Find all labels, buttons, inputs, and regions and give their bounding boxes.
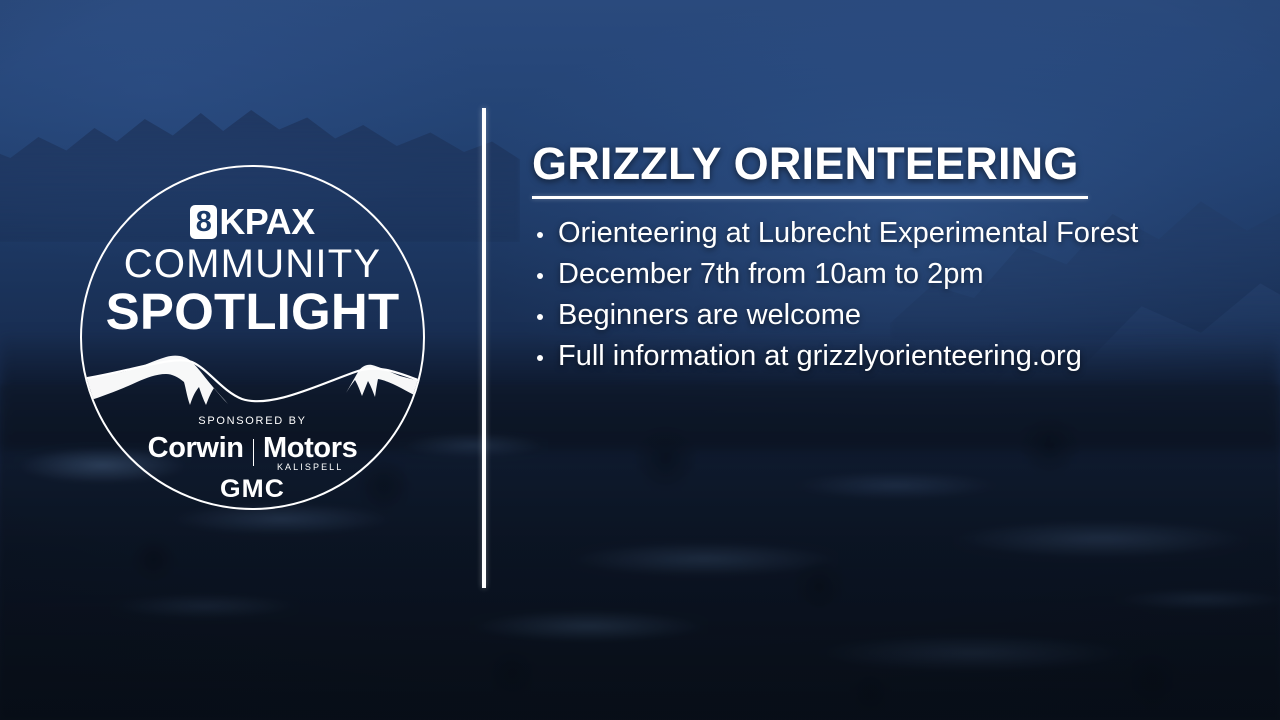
sponsored-by-label: SPONSORED BY	[82, 415, 423, 427]
sponsor-brand-gmc: GMC	[80, 475, 425, 504]
sponsor-name-left: Corwin	[148, 432, 244, 465]
vertical-divider	[482, 108, 486, 588]
title-underline	[532, 196, 1088, 199]
kpax-logo: 8 KPAX	[190, 205, 314, 239]
list-item: Full information at grizzlyorienteering.…	[532, 336, 1232, 377]
event-content: GRIZZLY ORIENTEERING Orienteering at Lub…	[532, 140, 1232, 377]
event-title: GRIZZLY ORIENTEERING	[532, 140, 1232, 187]
badge-line-community: COMMUNITY	[124, 244, 381, 284]
sponsor-location: KALISPELL	[277, 462, 343, 472]
list-item: Beginners are welcome	[532, 295, 1232, 336]
spotlight-graphic: 8 KPAX COMMUNITY SPOTLIGHT SPONSORED BY …	[0, 0, 1280, 720]
channel-number-box: 8	[190, 205, 217, 239]
list-item: Orienteering at Lubrecht Experimental Fo…	[532, 213, 1232, 254]
event-detail-list: Orienteering at Lubrecht Experimental Fo…	[532, 213, 1232, 377]
station-call-letters: KPAX	[219, 205, 314, 239]
kpax-community-spotlight-badge: 8 KPAX COMMUNITY SPOTLIGHT SPONSORED BY …	[80, 165, 425, 510]
sponsor-divider	[253, 439, 255, 466]
mountain-range-icon	[82, 349, 425, 411]
list-item: December 7th from 10am to 2pm	[532, 254, 1232, 295]
badge-line-spotlight: SPOTLIGHT	[106, 286, 400, 337]
sponsor-block: SPONSORED BY Corwin Motors KALISPELL GMC	[82, 415, 423, 504]
sponsor-name-row: Corwin Motors KALISPELL	[82, 432, 423, 472]
sponsor-name-right: Motors	[263, 432, 357, 465]
